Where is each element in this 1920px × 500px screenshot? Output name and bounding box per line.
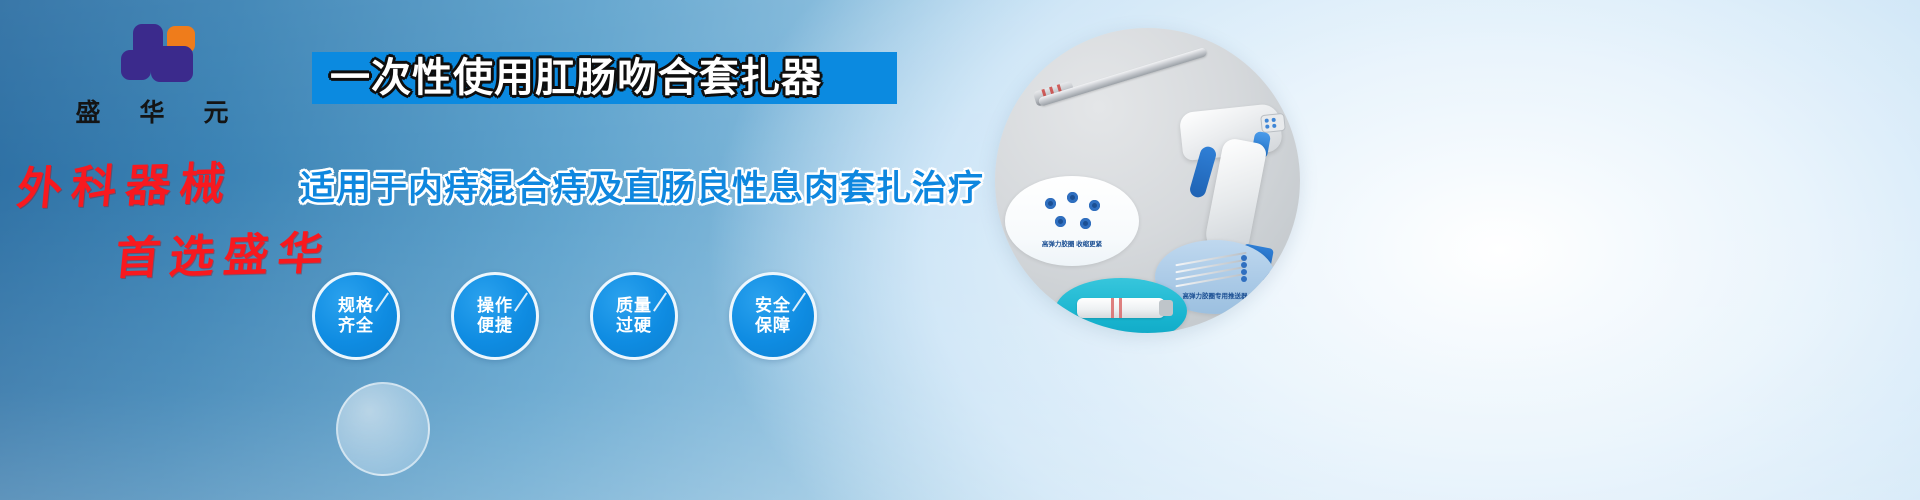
calligraphy-slogan: 外科器械 首选盛华 [18, 148, 348, 284]
feature-badge-text: 规格 齐全 [315, 275, 397, 357]
brand-logo[interactable]: 盛 华 元 [62, 24, 242, 129]
promo-banner: 盛 华 元 外科器械 首选盛华 一次性使用肛肠吻合套扎器 适用于内痔混合痔及直肠… [0, 0, 1920, 500]
feature-badge[interactable]: 操作 便捷 [451, 272, 539, 360]
pad-dot [1271, 118, 1275, 122]
logo-blocks-icon [113, 24, 191, 86]
feature-badge-line-2: 便捷 [477, 316, 513, 336]
pad-dot [1272, 124, 1276, 128]
feature-badge-line-1: 安全 [755, 296, 791, 316]
decorative-bubble [336, 382, 430, 476]
rubber-band-icon [1055, 216, 1066, 227]
feature-badge-text: 安全 保障 [732, 275, 814, 357]
pad-dot [1265, 124, 1269, 128]
applicator-barrel-icon [1038, 47, 1208, 107]
device-marker [1119, 298, 1122, 318]
feature-badge-text: 操作 便捷 [454, 275, 536, 357]
logo-block-c [121, 50, 151, 80]
feature-badge[interactable]: 质量 过硬 [590, 272, 678, 360]
feature-badge-line-2: 保障 [755, 316, 791, 336]
feature-badge-line-2: 过硬 [616, 316, 652, 336]
feature-badge-line-2: 齐全 [338, 316, 374, 336]
brand-name: 盛 华 元 [62, 93, 242, 129]
rubber-band-icon [1067, 192, 1078, 203]
feature-badge[interactable]: 规格 齐全 [312, 272, 400, 360]
page-title: 一次性使用肛肠吻合套扎器 [330, 52, 822, 104]
feature-badge-line-1: 质量 [616, 296, 652, 316]
rod-tip-icon [1241, 276, 1247, 282]
logo-block-d [151, 46, 193, 82]
rubber-band-icon [1089, 200, 1100, 211]
inset-caption-1: 高弹力胶圈 收缩更紧 [1011, 238, 1133, 248]
rod-tip-icon [1241, 269, 1247, 275]
device-body-icon [1077, 298, 1165, 318]
inset-rubber-bands: 高弹力胶圈 收缩更紧 [1005, 176, 1139, 266]
product-photo: 高弹力胶圈 收缩更紧 高弹力胶圈专用推送器 [995, 28, 1300, 333]
device-marker [1111, 298, 1114, 318]
device-cap-icon [1159, 300, 1173, 316]
rod-icon [1175, 273, 1246, 287]
page-subtitle: 适用于内痔混合痔及直肠良性息肉套扎治疗 [300, 160, 984, 211]
feature-badge-line-1: 操作 [477, 296, 513, 316]
pad-dot [1265, 118, 1269, 122]
rubber-band-icon [1045, 198, 1056, 209]
rod-tip-icon [1241, 255, 1247, 261]
applicator-button-pad-icon [1260, 113, 1286, 133]
feature-badge-line-1: 规格 [338, 296, 374, 316]
feature-badge[interactable]: 安全 保障 [729, 272, 817, 360]
rod-tip-icon [1241, 262, 1247, 268]
feature-badge-text: 质量 过硬 [593, 275, 675, 357]
rubber-band-icon [1080, 218, 1091, 229]
